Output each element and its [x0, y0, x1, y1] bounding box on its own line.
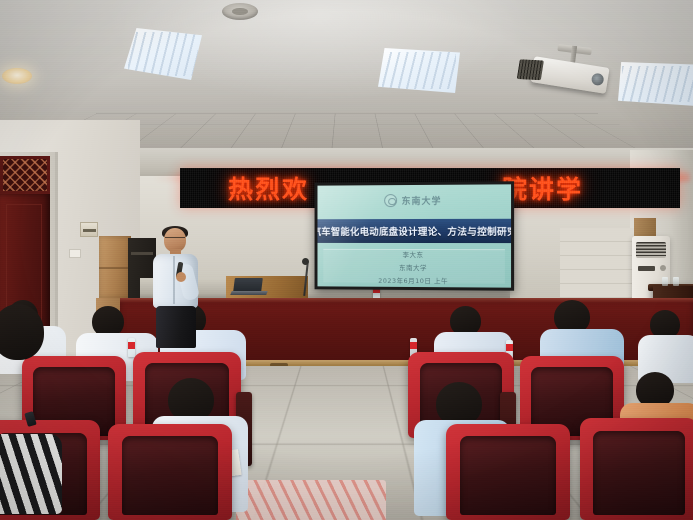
- projector-vent: [517, 59, 544, 80]
- laptop-screen: [233, 278, 263, 292]
- audience-head: [0, 304, 44, 360]
- seat-back-cushion: [122, 436, 219, 515]
- audience-striped-shirt: [0, 434, 62, 514]
- university-seal-icon: [385, 194, 398, 207]
- seat-row2-mid[interactable]: [108, 424, 232, 520]
- audience-member-far-right: [638, 310, 693, 380]
- wooden-cabinet-upper: [99, 236, 131, 298]
- presenter-laptop[interactable]: [231, 278, 267, 295]
- projection-screen: 东南大学 汽车智能化电动底盘设计理论、方法与控制研究 李大东 东南大学 2023…: [315, 181, 515, 290]
- smoke-detector: [222, 3, 258, 20]
- wall-sign: [80, 222, 98, 237]
- speaker-hand: [176, 272, 186, 282]
- slide-affiliation: 东南大学: [399, 261, 427, 271]
- glasses-icon: [165, 237, 185, 242]
- slide-title-band: 汽车智能化电动底盘设计理论、方法与控制研究: [317, 219, 511, 243]
- door-transom-lattice: [0, 156, 50, 194]
- seat-row2-far[interactable]: [580, 418, 693, 520]
- patterned-carpet-runner: [236, 480, 386, 520]
- ceiling-panel-light-3: [618, 62, 693, 106]
- ac-grill: [636, 242, 666, 258]
- table-microphone: [302, 258, 309, 265]
- speaker-trousers: [156, 306, 196, 348]
- slide-title-text: 汽车智能化电动底盘设计理论、方法与控制研究: [317, 224, 511, 238]
- smartphone[interactable]: [24, 411, 37, 427]
- ac-top-box: [634, 218, 656, 236]
- led-banner-text-left: 热烈欢: [228, 170, 309, 206]
- podium-glass-2: [673, 277, 679, 286]
- ac-label: [638, 266, 655, 271]
- seat-back-cushion: [593, 431, 685, 515]
- water-bottle-1: [128, 338, 135, 357]
- audience-member-striped-top: [0, 388, 70, 520]
- led-banner-text-right: 院讲学: [502, 170, 583, 206]
- slide-presenter-name: 李大东: [403, 248, 424, 258]
- recessed-can-light: [2, 68, 32, 84]
- seat-back-cushion: [460, 436, 557, 515]
- speaker-shirt-placket: [173, 256, 175, 304]
- podium-glass-1: [662, 277, 668, 286]
- slide-date: 2023年6月10日 上午: [378, 274, 448, 284]
- lecture-hall-photo: 热烈欢 院讲学 东南大学 汽车智能化电动底盘设计理论、方法与控制研究 李大东 东…: [0, 0, 693, 520]
- slide-body: 李大东 东南大学 2023年6月10日 上午: [323, 249, 505, 284]
- ac-control-knob[interactable]: [660, 265, 666, 271]
- laptop-keyboard: [230, 291, 268, 295]
- ceiling-panel-light-2: [378, 48, 460, 93]
- slide-university-header: 东南大学: [317, 193, 511, 207]
- presentation-slide: 东南大学 汽车智能化电动底盘设计理论、方法与控制研究 李大东 东南大学 2023…: [317, 184, 511, 287]
- presenting-speaker: [150, 228, 202, 346]
- light-switch-plate[interactable]: [69, 249, 81, 258]
- seat-row2-right[interactable]: [446, 424, 570, 520]
- slide-university-name: 东南大学: [402, 194, 442, 207]
